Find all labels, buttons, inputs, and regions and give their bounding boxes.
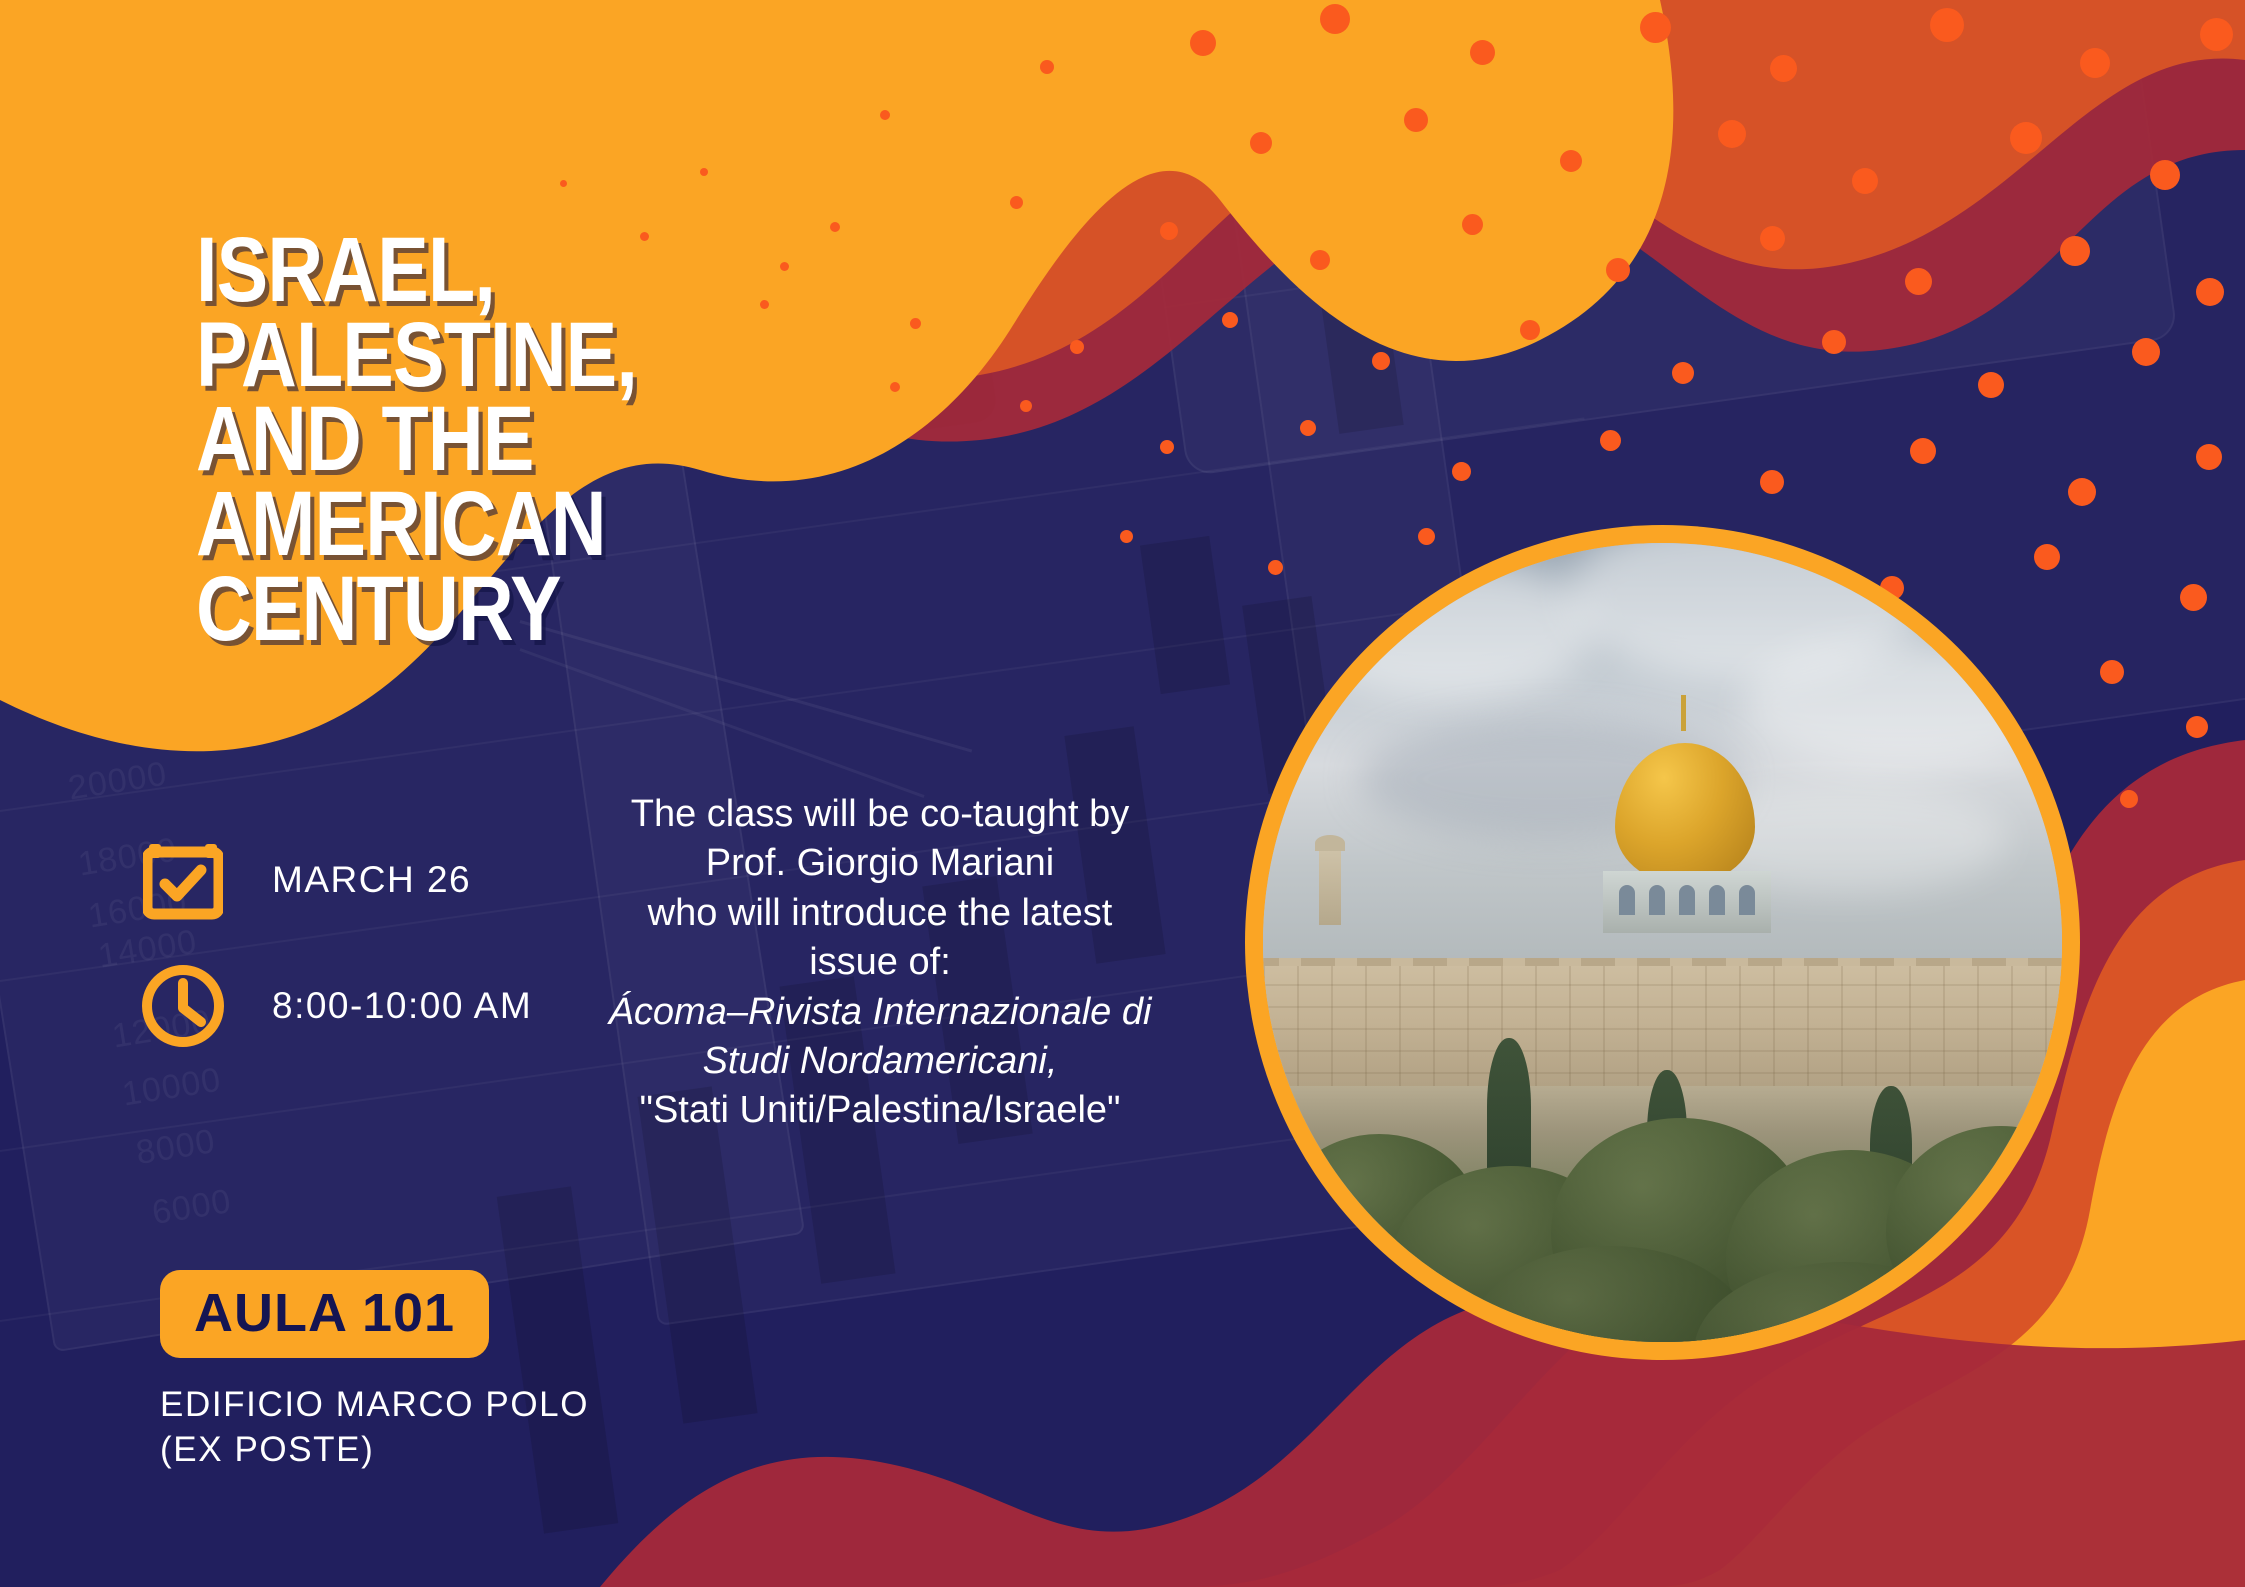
- title-line: PALESTINE,: [196, 313, 637, 398]
- event-time-label: 8:00-10:00 AM: [272, 985, 532, 1027]
- calendar-check-icon: [140, 840, 226, 920]
- title-line: ISRAEL,: [196, 228, 637, 313]
- description-block: The class will be co-taught by Prof. Gio…: [600, 790, 1160, 1136]
- description-line: The class will be co-taught by: [600, 790, 1160, 839]
- event-date-row: MARCH 26: [140, 832, 532, 928]
- event-details: MARCH 26 8:00-10:00 AM: [140, 832, 532, 1084]
- journal-title-line: Studi Nordamericani,: [600, 1037, 1160, 1086]
- venue-building-line: (EX POSTE): [160, 1428, 589, 1473]
- page-title: ISRAEL, PALESTINE, AND THE AMERICAN CENT…: [196, 228, 637, 651]
- issue-title: "Stati Uniti/Palestina/Israele": [600, 1086, 1160, 1135]
- jerusalem-photo: [1263, 543, 2062, 1342]
- venue-address: EDIFICIO MARCO POLO (EX POSTE): [160, 1383, 589, 1473]
- venue-building-line: EDIFICIO MARCO POLO: [160, 1383, 589, 1428]
- description-line: who will introduce the latest: [600, 889, 1160, 938]
- photo-shadow-gradient: [1263, 543, 2062, 1342]
- title-line: AMERICAN: [196, 482, 637, 567]
- clock-icon: [140, 963, 226, 1049]
- event-date-label: MARCH 26: [272, 859, 471, 901]
- event-poster: 100000 0 20000 18000 16000 14000 12000 1…: [0, 0, 2245, 1587]
- journal-title-line: Ácoma–Rivista Internazionale di: [600, 988, 1160, 1037]
- title-line: CENTURY: [196, 567, 637, 652]
- event-time-row: 8:00-10:00 AM: [140, 958, 532, 1054]
- description-line: Prof. Giorgio Mariani: [600, 839, 1160, 888]
- photo-ring: [1245, 525, 2080, 1360]
- room-badge: AULA 101: [160, 1270, 489, 1358]
- title-line: AND THE: [196, 397, 637, 482]
- description-line: issue of:: [600, 938, 1160, 987]
